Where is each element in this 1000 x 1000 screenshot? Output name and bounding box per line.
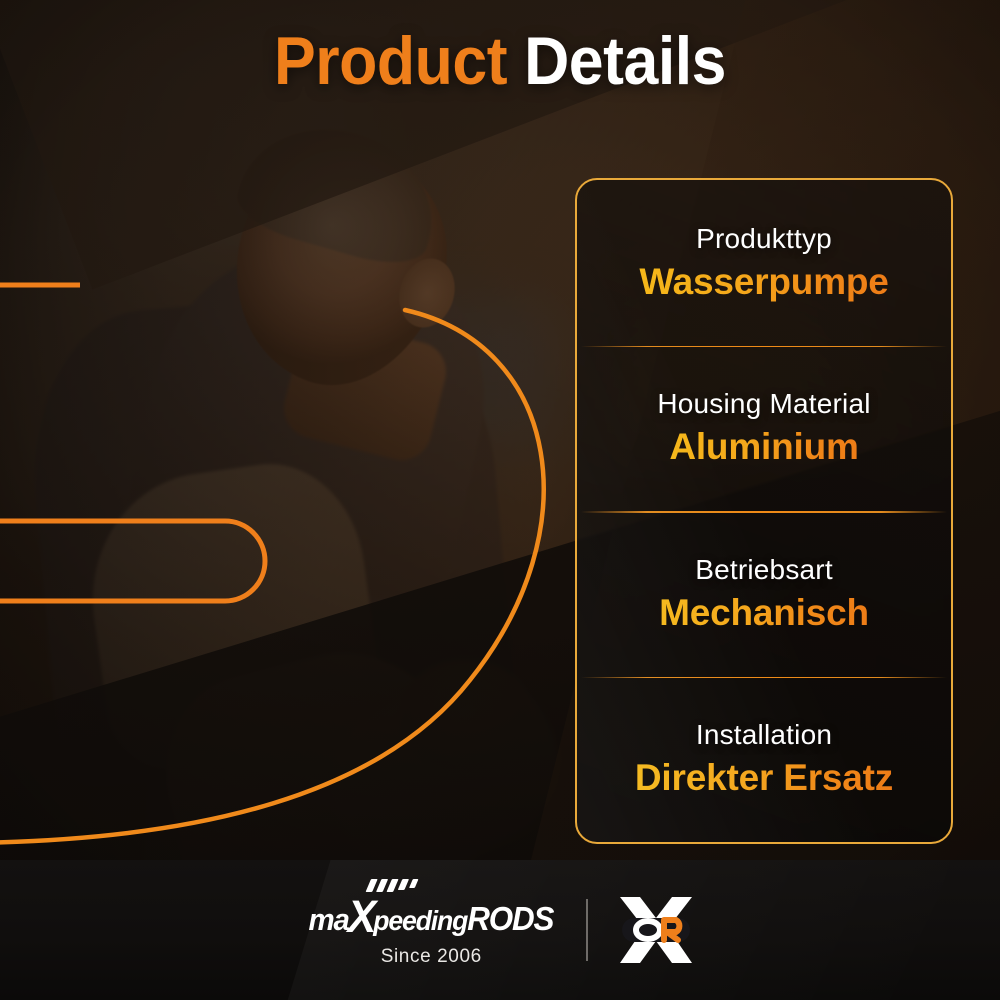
speed-lines-icon [366,879,419,892]
page-title-plain: Details [524,23,726,99]
spec-label: Produkttyp [696,223,832,255]
spec-value: Wasserpumpe [639,261,888,303]
spec-card: Produkttyp Wasserpumpe Housing Material … [575,178,953,844]
footer-bar: ma X peeding RODS Since 2006 [0,860,1000,1000]
spec-label: Betriebsart [695,554,833,586]
brand-logo: ma X peeding RODS Since 2006 [302,892,560,968]
brand-part-peeding: peeding [374,907,468,935]
spec-label: Installation [696,719,832,751]
badge-letter-r [664,920,679,940]
brand-part-rods: RODS [468,902,554,935]
brand-wordmark: ma X peeding RODS [309,892,554,937]
deco-arc-large [0,310,544,843]
spec-label: Housing Material [657,388,870,420]
spec-value: Direkter Ersatz [635,757,893,799]
brand-part-x: X [348,894,375,939]
spec-value: Aluminium [669,426,858,468]
product-details-graphic: Product Details Produkttyp Wasserpumpe H… [0,0,1000,1000]
spec-row: Installation Direkter Ersatz [577,677,951,843]
spec-row: Produkttyp Wasserpumpe [577,180,951,346]
brand-tagline: Since 2006 [381,946,482,968]
spec-value: Mechanisch [659,592,869,634]
spec-row: Betriebsart Mechanisch [577,511,951,677]
footer-divider [586,899,588,961]
brand-part-ma: ma [309,904,349,935]
page-title-accent: Product [274,23,507,99]
or-x-badge-logo [614,894,698,966]
page-title: Product Details [40,26,960,97]
spec-row: Housing Material Aluminium [577,346,951,512]
deco-pill-left [0,521,265,601]
